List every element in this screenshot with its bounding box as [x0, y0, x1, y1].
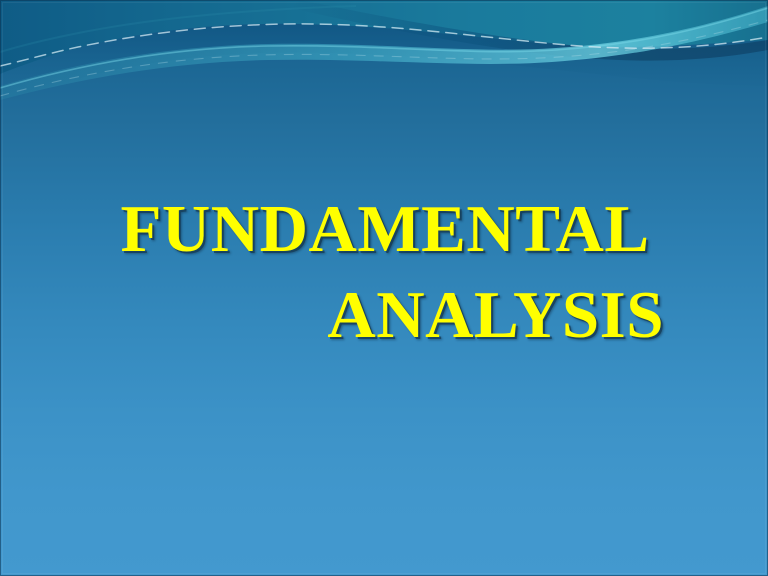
- wave-under-shade: [0, 24, 768, 104]
- wave-cyan-highlight: [0, 8, 768, 88]
- page-title-line-1: FUNDAMENTAL: [60, 186, 716, 272]
- title-slide: FUNDAMENTAL ANALYSIS: [0, 0, 768, 576]
- wave-cyan-ribbon: [0, 6, 768, 100]
- wave-dashed-highlight-secondary: [0, 20, 768, 96]
- wave-dark-band: [290, 0, 768, 61]
- wave-teal-field: [0, 0, 768, 74]
- wave-ribbon-artwork: [0, 0, 768, 180]
- slide-title-block: FUNDAMENTAL ANALYSIS: [0, 186, 768, 358]
- wave-corner-arc: [0, 6, 356, 52]
- page-title-line-2: ANALYSIS: [60, 272, 716, 358]
- wave-dashed-highlight: [0, 24, 768, 66]
